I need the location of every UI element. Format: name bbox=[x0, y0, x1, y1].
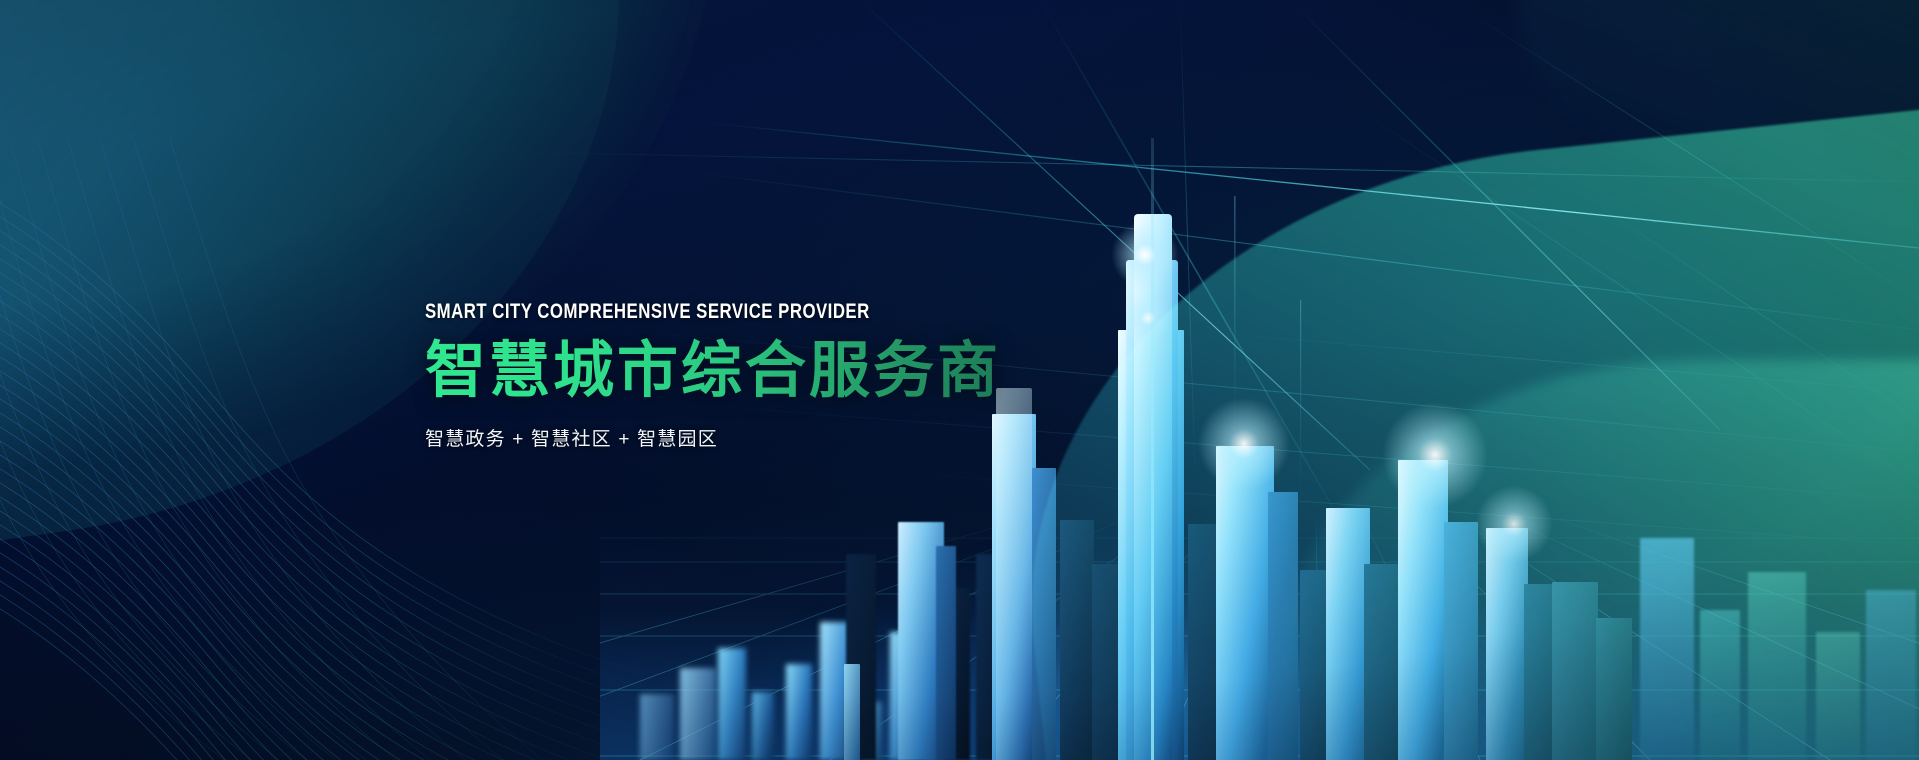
page-title: 智慧城市综合服务商 bbox=[425, 338, 1001, 404]
hero-copy: SMART CITY COMPREHENSIVE SERVICE PROVIDE… bbox=[425, 300, 1001, 451]
hero-subtitle: 智慧政务 + 智慧社区 + 智慧园区 bbox=[425, 424, 1001, 451]
hero-eyebrow: SMART CITY COMPREHENSIVE SERVICE PROVIDE… bbox=[425, 300, 886, 324]
smart-city-hero-banner: SMART CITY COMPREHENSIVE SERVICE PROVIDE… bbox=[0, 0, 1919, 760]
